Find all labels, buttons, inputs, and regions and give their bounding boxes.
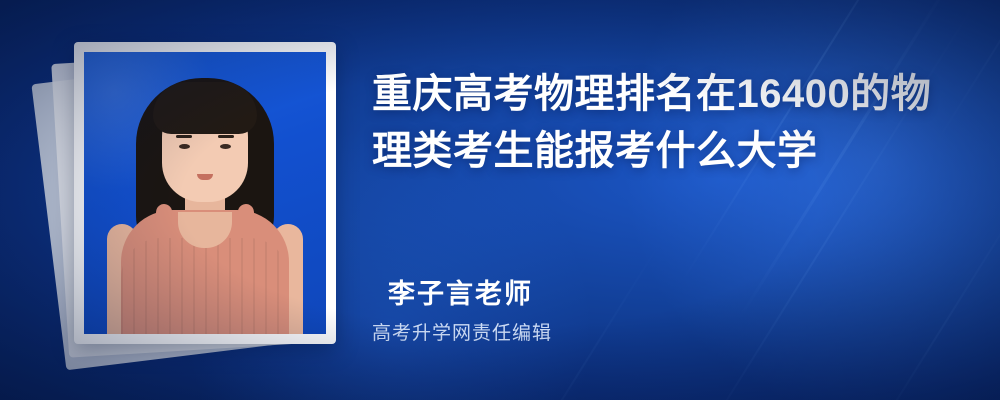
portrait-illustration [84, 52, 326, 334]
dress-texture [121, 238, 289, 334]
light-streak-decoration [844, 178, 1000, 400]
photo-card-front [74, 42, 336, 344]
eye-right-shape [220, 144, 231, 149]
light-streak-decoration [660, 0, 980, 400]
page-title: 重庆高考物理排名在16400的物理类考生能报考什么大学 [372, 66, 962, 180]
author-name: 李子言老师 [388, 272, 533, 311]
author-role: 高考升学网责任编辑 [372, 318, 552, 345]
avatar [84, 52, 326, 334]
eyebrow-right-shape [218, 135, 234, 138]
glow-decoration-right [600, 0, 1000, 400]
eyebrow-left-shape [176, 135, 192, 138]
promo-banner: 重庆高考物理排名在16400的物理类考生能报考什么大学 李子言老师 高考升学网责… [0, 0, 1000, 400]
fringe-shape [153, 82, 257, 134]
banner-text-block: 重庆高考物理排名在16400的物理类考生能报考什么大学 [372, 66, 962, 180]
photo-card-stack [48, 42, 348, 362]
eye-left-shape [179, 144, 190, 149]
